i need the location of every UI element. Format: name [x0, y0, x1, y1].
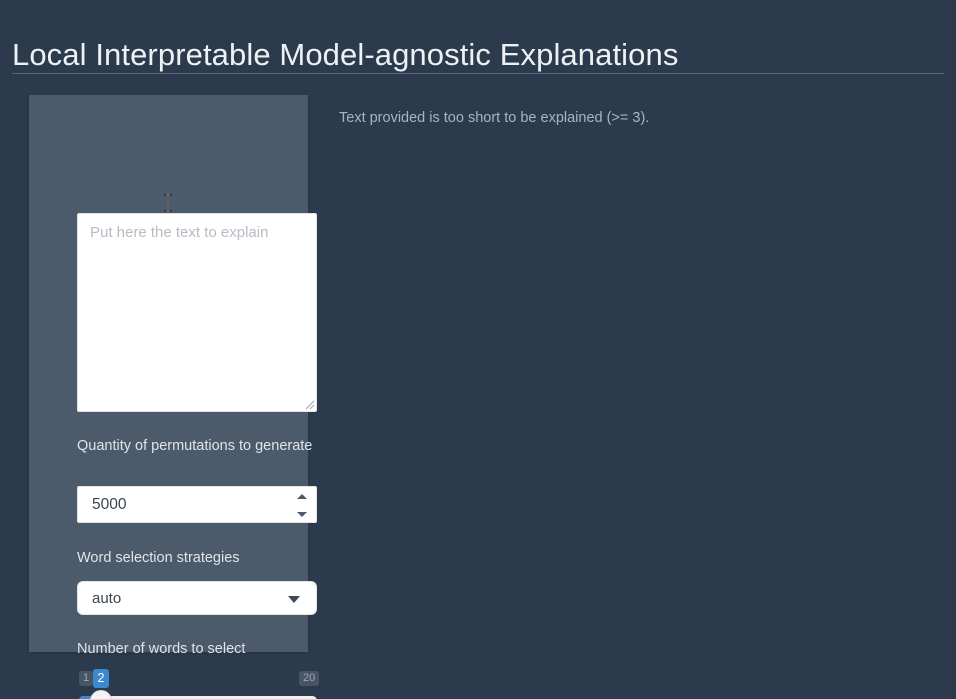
- header-divider: [12, 73, 944, 74]
- strategy-select[interactable]: auto: [77, 581, 317, 615]
- slider-max-label: 20: [299, 671, 319, 686]
- slider-min-label: 1: [79, 671, 93, 686]
- spinner-down-icon[interactable]: [297, 512, 307, 517]
- strategy-value: auto: [92, 590, 121, 607]
- words-label: Number of words to select: [77, 641, 317, 658]
- page-title: Local Interpretable Model-agnostic Expla…: [12, 37, 678, 73]
- permutations-value: 5000: [92, 496, 126, 514]
- explanation-form-card: Quantity of permutations to generate 500…: [29, 95, 308, 652]
- chevron-down-icon[interactable]: [288, 596, 300, 603]
- permutations-label: Quantity of permutations to generate: [77, 438, 317, 455]
- words-slider[interactable]: 1 20 2: [77, 671, 317, 699]
- text-cursor-icon: [162, 193, 174, 213]
- spinner-up-icon[interactable]: [297, 494, 307, 499]
- text-to-explain-input[interactable]: [77, 213, 317, 412]
- strategy-label: Word selection strategies: [77, 550, 317, 567]
- permutations-input[interactable]: 5000: [77, 486, 317, 523]
- status-message: Text provided is too short to be explain…: [339, 110, 649, 126]
- app-root: Local Interpretable Model-agnostic Expla…: [0, 0, 956, 699]
- permutations-spinner[interactable]: [296, 492, 308, 519]
- slider-value-badge: 2: [93, 669, 109, 688]
- slider-thumb[interactable]: [90, 690, 112, 699]
